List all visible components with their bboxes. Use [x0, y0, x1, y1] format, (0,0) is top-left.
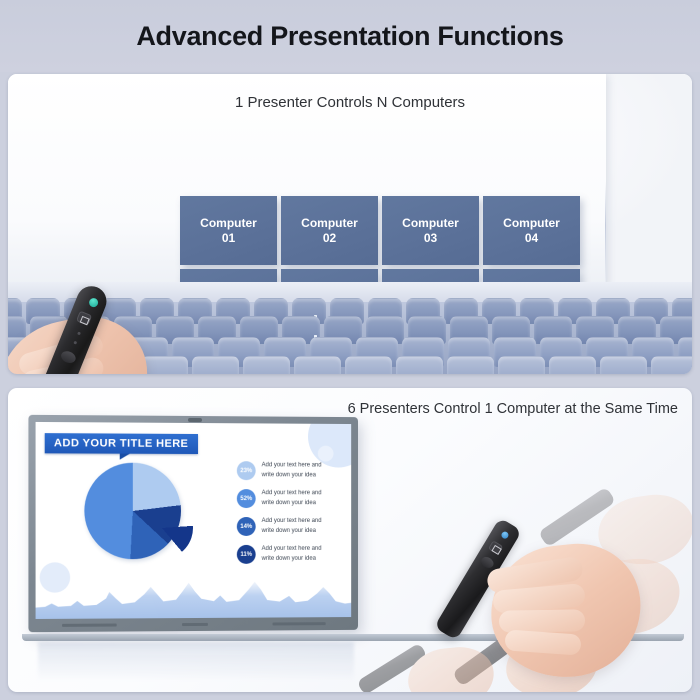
laser-button-icon: [88, 297, 100, 309]
top-feature-panel: 1 Presenter Controls N Computers Compute…: [8, 74, 692, 374]
finger: [499, 609, 585, 632]
legend-item: 11% Add your text here and write down yo…: [237, 545, 351, 564]
slide-title-banner: ADD YOUR TITLE HERE: [45, 433, 199, 454]
monitor-reflection: [38, 642, 354, 682]
presenter-hand-foreground: [449, 511, 664, 686]
wall-edge-line: [605, 182, 606, 290]
legend-percent-badge: 23%: [237, 461, 256, 480]
page-button-icon: [59, 349, 77, 365]
screen-button-icon: [76, 311, 92, 326]
vent: [273, 622, 326, 625]
banner-tail: [120, 454, 130, 460]
bottom-feature-panel: 6 Presenters Control 1 Computer at the S…: [8, 388, 692, 692]
presenter-hand-top: [8, 286, 208, 374]
legend-item: 23% Add your text here and write down yo…: [237, 461, 351, 480]
legend-percent-badge: 11%: [237, 545, 256, 564]
seat: [243, 356, 290, 374]
presenter-hands-group: [392, 442, 692, 692]
legend-item: 14% Add your text here and write down yo…: [237, 517, 351, 536]
computer-tile: Computer 01: [180, 196, 277, 265]
computer-tile: Computer 02: [281, 196, 378, 265]
legend-line-2: write down your idea: [262, 471, 322, 480]
computer-tile-number: 04: [525, 231, 538, 245]
monitor-vents: [28, 619, 358, 630]
legend-text: Add your text here and write down your i…: [262, 517, 322, 536]
decor-circle: [318, 446, 334, 462]
seat: [549, 356, 596, 374]
slide-title-text: ADD YOUR TITLE HERE: [45, 433, 199, 454]
vent: [62, 624, 117, 627]
computer-tile-number: 02: [323, 231, 336, 245]
legend-line-1: Add your text here and: [262, 545, 322, 554]
legend-line-2: write down your idea: [262, 526, 322, 535]
computer-tile: Computer 04: [483, 196, 580, 265]
legend-line-2: write down your idea: [262, 554, 322, 563]
power-button-icon: [500, 530, 510, 540]
computer-tile-name: Computer: [402, 216, 459, 230]
decor-circle: [40, 562, 71, 592]
computer-tile-name: Computer: [200, 216, 257, 230]
legend-item: 52% Add your text here and write down yo…: [237, 489, 351, 508]
seat: [345, 356, 392, 374]
chart-legend: 23% Add your text here and write down yo…: [237, 461, 351, 573]
page-title: Advanced Presentation Functions: [136, 21, 563, 52]
legend-line-1: Add your text here and: [262, 489, 322, 498]
led-indicator-icon: [77, 331, 81, 335]
led-indicator-icon: [73, 341, 77, 345]
vent: [182, 623, 208, 626]
bottom-panel-subtitle: 6 Presenters Control 1 Computer at the S…: [348, 401, 678, 417]
pie-chart: [84, 463, 190, 569]
interactive-display-monitor: ADD YOUR TITLE HERE 23% Add your text he…: [28, 415, 358, 632]
legend-text: Add your text here and write down your i…: [262, 545, 322, 564]
top-panel-subtitle: 1 Presenter Controls N Computers: [8, 94, 692, 111]
seat: [396, 356, 443, 374]
page-button-icon: [479, 555, 495, 570]
legend-percent-badge: 14%: [237, 517, 256, 536]
presentation-screen: ADD YOUR TITLE HERE 23% Add your text he…: [36, 422, 352, 619]
screen-button-icon: [488, 540, 503, 555]
computer-tile-name: Computer: [503, 216, 560, 230]
legend-line-2: write down your idea: [262, 499, 322, 508]
legend-text: Add your text here and write down your i…: [262, 489, 322, 508]
computer-tile-number: 01: [222, 231, 235, 245]
page-header: Advanced Presentation Functions: [0, 0, 700, 72]
skyline-graphic: [36, 577, 352, 619]
computer-tile-name: Computer: [301, 216, 358, 230]
seat: [498, 356, 545, 374]
legend-text: Add your text here and write down your i…: [262, 461, 322, 480]
seat: [651, 356, 692, 374]
seat: [294, 356, 341, 374]
camera-icon: [188, 418, 202, 422]
computer-tile: Computer 03: [382, 196, 479, 265]
legend-percent-badge: 52%: [237, 489, 256, 508]
legend-line-1: Add your text here and: [262, 461, 322, 470]
legend-line-1: Add your text here and: [262, 517, 322, 526]
computer-tile-number: 03: [424, 231, 437, 245]
seat: [447, 356, 494, 374]
seat: [600, 356, 647, 374]
